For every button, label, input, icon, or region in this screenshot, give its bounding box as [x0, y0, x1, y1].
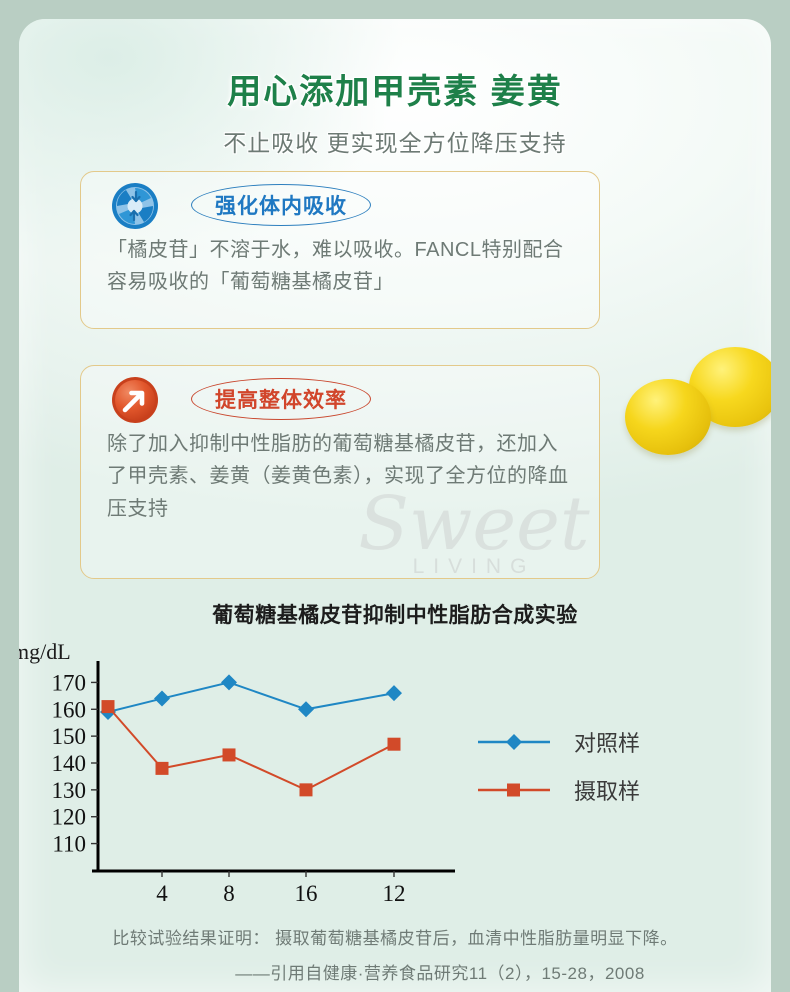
data-point-marker: [221, 674, 237, 690]
data-point-marker: [156, 762, 169, 775]
legend-marker-0: [506, 734, 522, 750]
x-axis-tick-label: 16: [295, 881, 318, 906]
line-chart: mg/dL170160150140130120110481612对照样摄取样: [19, 639, 752, 909]
data-point-marker: [298, 701, 314, 717]
x-axis-tick-label: 8: [223, 881, 235, 906]
x-axis-tick-label: 4: [156, 881, 168, 906]
series-line-0: [108, 682, 394, 712]
card-body-absorption: 「橘皮苷」不溶于水，难以吸收。FANCL特别配合容易吸收的「葡萄糖基橘皮苷」: [81, 232, 599, 299]
card-pill-label-absorption: 强化体内吸收: [191, 184, 371, 226]
up-arrow-efficiency-icon: [111, 376, 159, 424]
yellow-tablets-photo: [617, 339, 771, 467]
y-axis-tick-label: 120: [52, 805, 87, 830]
tablet-small: [625, 379, 711, 455]
card-pill-label-efficiency: 提高整体效率: [191, 378, 371, 420]
content-panel: 用心添加甲壳素 姜黄 不止吸收 更实现全方位降压支持: [19, 19, 771, 992]
data-point-marker: [102, 700, 115, 713]
product-infographic-page: 用心添加甲壳素 姜黄 不止吸收 更实现全方位降压支持: [0, 0, 790, 992]
card-header: 强化体内吸收: [81, 172, 599, 232]
legend-marker-1: [507, 784, 520, 797]
footnote: 比较试验结果证明： 摄取葡萄糖基橘皮苷后，血清中性脂肪量明显下降。 ——引用自健…: [19, 924, 771, 984]
feature-card-absorption: 强化体内吸收 「橘皮苷」不溶于水，难以吸收。FANCL特别配合容易吸收的「葡萄糖…: [80, 171, 600, 329]
data-point-marker: [223, 748, 236, 761]
footnote-line-2: ——引用自健康·营养食品研究11（2），15-28，2008: [19, 959, 771, 984]
chart-title: 葡萄糖基橘皮苷抑制中性脂肪合成实验: [19, 599, 771, 629]
y-axis-tick-label: 170: [52, 670, 87, 695]
card-body-efficiency: 除了加入抑制中性脂肪的葡萄糖基橘皮苷，还加入了甲壳素、姜黄（姜黄色素），实现了全…: [81, 426, 599, 525]
data-point-marker: [300, 783, 313, 796]
absorption-swirl-icon: [111, 182, 159, 230]
x-axis-tick-label: 12: [383, 881, 406, 906]
data-point-marker: [154, 691, 170, 707]
legend-label-1: 摄取样: [574, 779, 640, 804]
y-axis-tick-label: 110: [52, 832, 86, 857]
data-point-marker: [388, 738, 401, 751]
header: 用心添加甲壳素 姜黄 不止吸收 更实现全方位降压支持: [19, 71, 771, 158]
footnote-line-1: 比较试验结果证明： 摄取葡萄糖基橘皮苷后，血清中性脂肪量明显下降。: [19, 924, 771, 949]
series-line-1: [108, 707, 394, 790]
y-axis-tick-label: 140: [52, 751, 87, 776]
page-title: 用心添加甲壳素 姜黄: [19, 71, 771, 114]
chart-svg: mg/dL170160150140130120110481612对照样摄取样: [19, 639, 752, 909]
card-header: 提高整体效率: [81, 366, 599, 426]
feature-card-efficiency: 提高整体效率 除了加入抑制中性脂肪的葡萄糖基橘皮苷，还加入了甲壳素、姜黄（姜黄色…: [80, 365, 600, 579]
data-point-marker: [386, 685, 402, 701]
y-axis-unit-label: mg/dL: [19, 639, 71, 664]
page-subtitle: 不止吸收 更实现全方位降压支持: [19, 124, 771, 158]
y-axis-tick-label: 160: [52, 697, 87, 722]
legend-label-0: 对照样: [574, 731, 640, 756]
y-axis-tick-label: 130: [52, 778, 87, 803]
y-axis-tick-label: 150: [52, 724, 87, 749]
